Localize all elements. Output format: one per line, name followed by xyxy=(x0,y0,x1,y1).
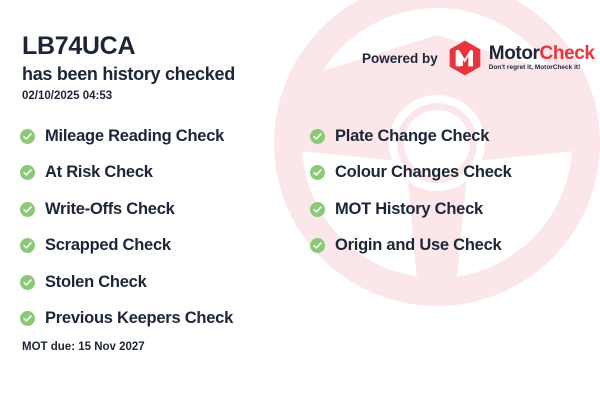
check-label: At Risk Check xyxy=(45,163,153,182)
history-check-banner: LB74UCA has been history checked 02/10/2… xyxy=(0,0,600,400)
motorcheck-wordmark: MotorCheck Don't regret it, MotorCheck i… xyxy=(489,44,595,71)
page-title: LB74UCA xyxy=(22,32,322,61)
list-item: Colour Changes Check xyxy=(310,155,580,192)
list-item: Previous Keepers Check xyxy=(20,301,310,338)
check-label: Mileage Reading Check xyxy=(45,127,224,146)
wordmark-line: MotorCheck xyxy=(489,44,595,63)
logo-tagline: Don't regret it, MotorCheck it! xyxy=(489,65,595,71)
green-check-circle-icon xyxy=(310,202,325,217)
checks-column-left: Mileage Reading Check At Risk Check Writ… xyxy=(20,118,310,337)
list-item: Origin and Use Check xyxy=(310,228,580,265)
wordmark-check: Check xyxy=(540,43,595,64)
check-timestamp: 02/10/2025 04:53 xyxy=(22,90,322,102)
check-label: Write-Offs Check xyxy=(45,200,175,219)
check-label: MOT History Check xyxy=(335,200,483,219)
check-label: Scrapped Check xyxy=(45,236,171,255)
check-label: Plate Change Check xyxy=(335,127,489,146)
list-item: MOT History Check xyxy=(310,191,580,228)
green-check-circle-icon xyxy=(20,311,35,326)
check-label: Origin and Use Check xyxy=(335,236,501,255)
powered-by-label: Powered by xyxy=(362,51,438,66)
green-check-circle-icon xyxy=(20,129,35,144)
green-check-circle-icon xyxy=(20,275,35,290)
list-item: Write-Offs Check xyxy=(20,191,310,228)
green-check-circle-icon xyxy=(20,238,35,253)
green-check-circle-icon xyxy=(310,129,325,144)
green-check-circle-icon xyxy=(310,165,325,180)
page-subtitle: has been history checked xyxy=(22,63,322,86)
list-item: Scrapped Check xyxy=(20,228,310,265)
green-check-circle-icon xyxy=(20,202,35,217)
list-item: Mileage Reading Check xyxy=(20,118,310,155)
check-label: Stolen Check xyxy=(45,273,147,292)
vehicle-header: LB74UCA has been history checked 02/10/2… xyxy=(22,32,322,102)
list-item: Stolen Check xyxy=(20,264,310,301)
motorcheck-logo[interactable]: MotorCheck Don't regret it, MotorCheck i… xyxy=(448,40,595,76)
check-label: Previous Keepers Check xyxy=(45,309,233,328)
checks-column-right: Plate Change Check Colour Changes Check … xyxy=(310,118,580,337)
green-check-circle-icon xyxy=(20,165,35,180)
green-check-circle-icon xyxy=(310,238,325,253)
list-item: Plate Change Check xyxy=(310,118,580,155)
mot-due-label: MOT due: 15 Nov 2027 xyxy=(22,341,145,353)
motorcheck-hexagon-logo-icon xyxy=(448,40,482,76)
checks-grid: Mileage Reading Check At Risk Check Writ… xyxy=(20,118,580,337)
check-label: Colour Changes Check xyxy=(335,163,512,182)
wordmark-motor: Motor xyxy=(489,43,540,64)
powered-by-block: Powered by MotorCheck Don't regret it, M… xyxy=(362,40,595,76)
list-item: At Risk Check xyxy=(20,155,310,192)
